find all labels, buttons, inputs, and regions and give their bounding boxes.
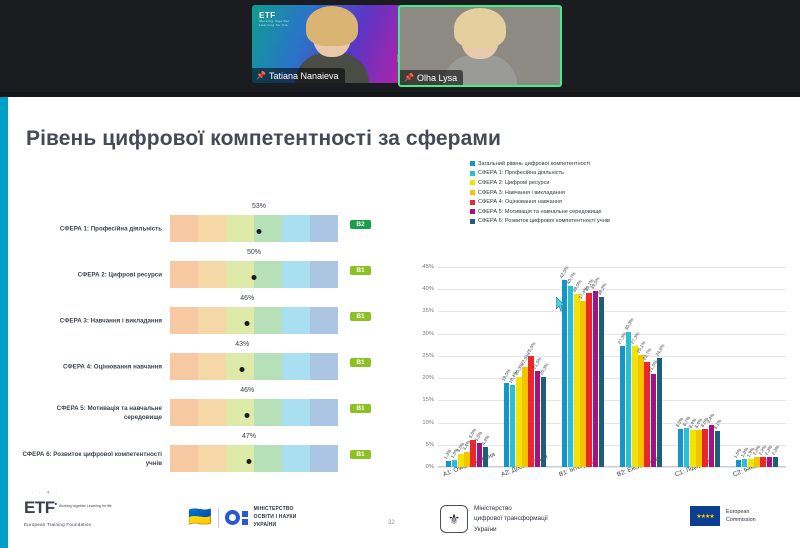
gauge-label: СФЕРА 2: Цифрові ресурси xyxy=(20,272,162,281)
bar-group: 42,0%40,7%39,0%37,4%39,1%39,5%38,2% xyxy=(562,267,605,467)
bar[interactable]: 37,4% xyxy=(580,301,586,467)
etf-wordmark: ETF• xyxy=(24,498,57,517)
presentation-slide: Рівень цифрової компетентності за сферам… xyxy=(0,97,800,548)
gauge-segment xyxy=(254,445,282,472)
bar-value-label: 8,1% xyxy=(712,418,722,430)
gauge-marker-dot xyxy=(257,229,262,234)
bar[interactable]: 8,1% xyxy=(715,431,721,467)
gauge-segment xyxy=(282,261,310,288)
bar[interactable]: 38,2% xyxy=(599,297,605,467)
bar-value-label: 24,6% xyxy=(654,343,665,357)
bar[interactable]: 1,9% xyxy=(748,459,754,467)
level-badge: B1 xyxy=(350,266,371,275)
bar[interactable]: 3,4% xyxy=(464,452,470,467)
bar[interactable]: 4,4% xyxy=(483,447,489,467)
gridline xyxy=(438,334,786,335)
bar[interactable]: 20,3% xyxy=(541,377,547,467)
legend-item[interactable]: СФЕРА 6: Розвиток цифрової компетентност… xyxy=(470,217,610,227)
page-number: 32 xyxy=(388,520,395,526)
legend-item[interactable]: СФЕРА 3: Навчання і викладання xyxy=(470,188,610,198)
bar[interactable]: 20,3% xyxy=(516,377,522,467)
etf-tagline: Working together Learning for life xyxy=(59,504,112,509)
gauge-marker-dot xyxy=(252,275,257,280)
gauge-segment xyxy=(170,399,198,426)
gridline xyxy=(438,467,786,468)
bar[interactable]: 39,0% xyxy=(574,294,580,467)
bar[interactable]: 1,8% xyxy=(742,459,748,467)
bar[interactable]: 30,3% xyxy=(626,332,632,467)
gauge-segment xyxy=(310,261,338,288)
gridline xyxy=(438,356,786,357)
gridline xyxy=(438,445,786,446)
etf-subtitle: European Training Foundation xyxy=(24,522,112,527)
slide-footer: · · ✦ · ETF•Working together Learning fo… xyxy=(0,490,800,548)
gauge-row: СФЕРА 6: Розвиток цифрової компетентност… xyxy=(20,437,365,483)
bar[interactable]: 27,3% xyxy=(632,346,638,467)
gauge-marker-dot xyxy=(245,413,250,418)
divider xyxy=(218,508,219,528)
gauge-value: 50% xyxy=(247,249,261,256)
legend-swatch xyxy=(470,171,475,176)
gauge-value: 46% xyxy=(240,387,254,394)
european-commission-logo: ★★★★ European Commission xyxy=(690,506,756,526)
gauge-label: СФЕРА 4: Оцінювання навчання xyxy=(20,364,162,373)
trident-icon: ⚜ xyxy=(440,505,468,533)
bar[interactable]: 27,3% xyxy=(620,346,626,467)
gauge-segment xyxy=(198,307,226,334)
gauge-label: СФЕРА 1: Професійна діяльність xyxy=(20,226,162,235)
ministry-digital-logo: ⚜ Міністерство цифрової трансформації Ук… xyxy=(440,504,548,535)
gauge-segment xyxy=(198,399,226,426)
gridline xyxy=(438,423,786,424)
gauge-segment xyxy=(282,215,310,242)
gauge-row: СФЕРА 2: Цифрові ресурси50%B1 xyxy=(20,253,365,299)
gauge-segment xyxy=(254,307,282,334)
gauge-segment xyxy=(198,353,226,380)
bar[interactable]: 6,0% xyxy=(470,440,476,467)
y-axis-tick: 0% xyxy=(426,464,438,470)
trident-icon: 🇺🇦 xyxy=(188,508,212,527)
bar-value-label: 23,7% xyxy=(642,347,653,361)
slide-accent-bar xyxy=(0,97,8,548)
gauge-segment xyxy=(310,399,338,426)
gauge-row: СФЕРА 4: Оцінювання навчання43%B1 xyxy=(20,345,365,391)
level-badge: B1 xyxy=(350,312,371,321)
pin-icon[interactable]: 📌 xyxy=(256,72,266,80)
competence-gauges: СФЕРА 1: Професійна діяльність53%B2СФЕРА… xyxy=(20,207,365,483)
gauge-value: 46% xyxy=(240,295,254,302)
gauge-segment xyxy=(254,261,282,288)
gauge-segment xyxy=(310,445,338,472)
y-axis-tick: 40% xyxy=(422,286,438,292)
bar[interactable]: 21,0% xyxy=(651,374,657,467)
gauge-value: 47% xyxy=(242,433,256,440)
gauge-segment xyxy=(170,353,198,380)
gauge-track xyxy=(170,353,338,380)
bar[interactable]: 3,0% xyxy=(458,454,464,467)
gauge-segment xyxy=(254,399,282,426)
ministry-education-text: МІНІСТЕРСТВО ОСВІТИ І НАУКИ УКРАЇНИ xyxy=(254,506,297,529)
gauge-value: 43% xyxy=(235,341,249,348)
gauge-segment xyxy=(198,215,226,242)
distribution-bar-chart: Загальний рівень цифрової компетентності… xyxy=(408,159,788,529)
bar[interactable]: 2,3% xyxy=(773,457,779,467)
bar[interactable]: 22,5% xyxy=(522,367,528,467)
gauge-segment xyxy=(170,445,198,472)
gridline xyxy=(438,289,786,290)
bar[interactable]: 19,0% xyxy=(504,383,510,467)
bar[interactable]: 1,6% xyxy=(452,460,458,467)
legend-item[interactable]: СФЕРА 4: Оцінювання навчання xyxy=(470,197,610,207)
gauge-value: 53% xyxy=(252,203,266,210)
legend-item[interactable]: СФЕРА 5: Мотивація та навчальне середови… xyxy=(470,207,610,217)
bar[interactable]: 40,7% xyxy=(568,286,574,467)
gridline xyxy=(438,311,786,312)
bar[interactable]: 24,6% xyxy=(657,358,663,467)
bar-group: 27,3%30,3%27,3%25,1%23,7%21,0%24,6% xyxy=(620,267,663,467)
bar[interactable]: 25,0% xyxy=(528,356,534,467)
mon-symbol xyxy=(225,510,248,525)
gridline xyxy=(438,267,786,268)
legend-label: СФЕРА 4: Оцінювання навчання xyxy=(478,199,562,205)
bar[interactable]: 23,7% xyxy=(644,362,650,467)
y-axis-tick: 15% xyxy=(422,397,438,403)
bar[interactable]: 8,4% xyxy=(696,430,702,467)
gauge-row: СФЕРА 3: Навчання і викладання46%B1 xyxy=(20,299,365,345)
bar[interactable]: 21,5% xyxy=(535,371,541,467)
bar-group: 1,6%1,8%1,9%2,2%2,2%2,3%2,3% xyxy=(736,267,779,467)
bar[interactable]: 18,4% xyxy=(510,385,516,467)
etf-logo-tagline: Working togetherLearning for life xyxy=(259,20,290,28)
legend-label: СФЕРА 3: Навчання і викладання xyxy=(478,190,565,196)
bar[interactable]: 2,2% xyxy=(760,457,766,467)
gauge-track xyxy=(170,445,338,472)
gauge-segment xyxy=(310,353,338,380)
legend-swatch xyxy=(470,190,475,195)
participant-name-bar: 📌 Olha Lysa xyxy=(400,70,463,85)
legend-label: СФЕРА 1: Професійна діяльність xyxy=(478,170,564,176)
bar[interactable]: 5,5% xyxy=(477,443,483,467)
gauge-segment xyxy=(310,215,338,242)
gauge-label: СФЕРА 5: Мотивація та навчальне середови… xyxy=(20,405,162,423)
gauge-row: СФЕРА 1: Професійна діяльність53%B2 xyxy=(20,207,365,253)
eu-flag-icon: ★★★★ xyxy=(690,506,720,526)
bar-value-label: 20,3% xyxy=(538,362,549,376)
bar[interactable]: 9,4% xyxy=(709,425,715,467)
legend-swatch xyxy=(470,200,475,205)
legend-label: СФЕРА 2: Цифрові ресурси xyxy=(478,180,550,186)
bar[interactable]: 39,1% xyxy=(586,293,592,467)
gauge-segment xyxy=(170,261,198,288)
bar-value-label: 25,0% xyxy=(526,341,537,355)
participant-tile-tatiana[interactable]: ETF Working togetherLearning for life 📌 … xyxy=(252,5,412,83)
bar[interactable]: 8,4% xyxy=(690,430,696,467)
y-axis-tick: 30% xyxy=(422,331,438,337)
participant-tile-olha[interactable]: 📌 Olha Lysa xyxy=(398,5,562,87)
gridline xyxy=(438,400,786,401)
gauge-segment xyxy=(226,399,254,426)
level-badge: B2 xyxy=(350,220,371,229)
chart-plot-area: 0%5%10%15%20%25%30%35%40%45%A1: Ознайомл… xyxy=(438,267,786,467)
gauge-track xyxy=(170,307,338,334)
participant-name: Tatiana Nanaieva xyxy=(269,71,339,81)
level-badge: B1 xyxy=(350,358,371,367)
gauge-marker-dot xyxy=(245,321,250,326)
legend-swatch xyxy=(470,219,475,224)
y-axis-tick: 35% xyxy=(422,308,438,314)
bar[interactable]: 2,2% xyxy=(754,457,760,467)
participant-name-bar: 📌 Tatiana Nanaieva xyxy=(252,68,345,83)
gauge-segment xyxy=(254,353,282,380)
gauge-segment xyxy=(226,215,254,242)
legend-label: СФЕРА 5: Мотивація та навчальне середови… xyxy=(478,209,602,215)
gauge-segment xyxy=(282,399,310,426)
bar[interactable]: 8,7% xyxy=(684,428,690,467)
gauge-segment xyxy=(226,261,254,288)
y-axis-tick: 20% xyxy=(422,375,438,381)
legend-label: Загальний рівень цифрової компетентності xyxy=(478,161,590,167)
bar[interactable]: 1,6% xyxy=(736,460,742,467)
bar-group: 19,0%18,4%20,3%22,5%25,0%21,5%20,3% xyxy=(504,267,547,467)
y-axis-tick: 45% xyxy=(422,264,438,270)
gauge-segment xyxy=(198,445,226,472)
gauge-segment xyxy=(282,353,310,380)
y-axis-tick: 5% xyxy=(426,442,438,448)
bar[interactable]: 2,3% xyxy=(767,457,773,467)
y-axis-tick: 25% xyxy=(422,353,438,359)
gauge-marker-dot xyxy=(246,459,251,464)
european-commission-text: European Commission xyxy=(726,508,756,524)
bar-value-label: 30,3% xyxy=(623,318,634,332)
legend-swatch xyxy=(470,209,475,214)
gauge-segment xyxy=(170,307,198,334)
legend-item[interactable]: Загальний рівень цифрової компетентності xyxy=(470,159,610,169)
bar[interactable]: 1,3% xyxy=(446,461,452,467)
level-badge: B1 xyxy=(350,450,371,459)
gridline xyxy=(438,378,786,379)
legend-label: СФЕРА 6: Розвиток цифрової компетентност… xyxy=(478,218,610,224)
gauge-segment xyxy=(282,307,310,334)
gauge-marker-dot xyxy=(240,367,245,372)
etf-logo-overlay: ETF Working togetherLearning for life xyxy=(259,11,290,28)
level-badge: B1 xyxy=(350,404,371,413)
gauge-segment xyxy=(282,445,310,472)
legend-item[interactable]: СФЕРА 2: Цифрові ресурси xyxy=(470,178,610,188)
etf-dots-decoration: · · ✦ · xyxy=(32,490,59,496)
bar[interactable]: 25,1% xyxy=(638,355,644,467)
bar[interactable]: 39,5% xyxy=(593,291,599,467)
gauge-track xyxy=(170,215,338,242)
bar[interactable]: 8,6% xyxy=(702,429,708,467)
gauge-segment xyxy=(310,307,338,334)
gauge-segment xyxy=(198,261,226,288)
legend-item[interactable]: СФЕРА 1: Професійна діяльність xyxy=(470,169,610,179)
y-axis-tick: 10% xyxy=(422,420,438,426)
gauge-segment xyxy=(226,307,254,334)
gauge-row: СФЕРА 5: Мотивація та навчальне середови… xyxy=(20,391,365,437)
bar[interactable]: 8,5% xyxy=(678,429,684,467)
legend-swatch xyxy=(470,161,475,166)
ministry-digital-text: Міністерство цифрової трансформації Укра… xyxy=(474,504,548,535)
legend-swatch xyxy=(470,180,475,185)
gauge-label: СФЕРА 6: Розвиток цифрової компетентност… xyxy=(20,451,162,469)
gauge-label: СФЕРА 3: Навчання і викладання xyxy=(20,318,162,327)
page-title: Рівень цифрової компетентності за сферам… xyxy=(26,127,501,151)
bar-group: 8,5%8,7%8,4%8,4%8,6%9,4%8,1% xyxy=(678,267,721,467)
video-conference-strip: ETF Working togetherLearning for life 📌 … xyxy=(0,0,800,92)
bar-group: 1,3%1,6%3,0%3,4%6,0%5,5%4,4% xyxy=(446,267,489,467)
etf-logo: · · ✦ · ETF•Working together Learning fo… xyxy=(24,498,112,527)
pin-icon[interactable]: 📌 xyxy=(404,74,414,82)
participant-name: Olha Lysa xyxy=(417,73,457,83)
gauge-segment xyxy=(170,215,198,242)
chart-legend: Загальний рівень цифрової компетентності… xyxy=(470,159,610,226)
gauge-track xyxy=(170,399,338,426)
ministry-education-logo: 🇺🇦 МІНІСТЕРСТВО ОСВІТИ І НАУКИ УКРАЇНИ xyxy=(188,506,297,529)
